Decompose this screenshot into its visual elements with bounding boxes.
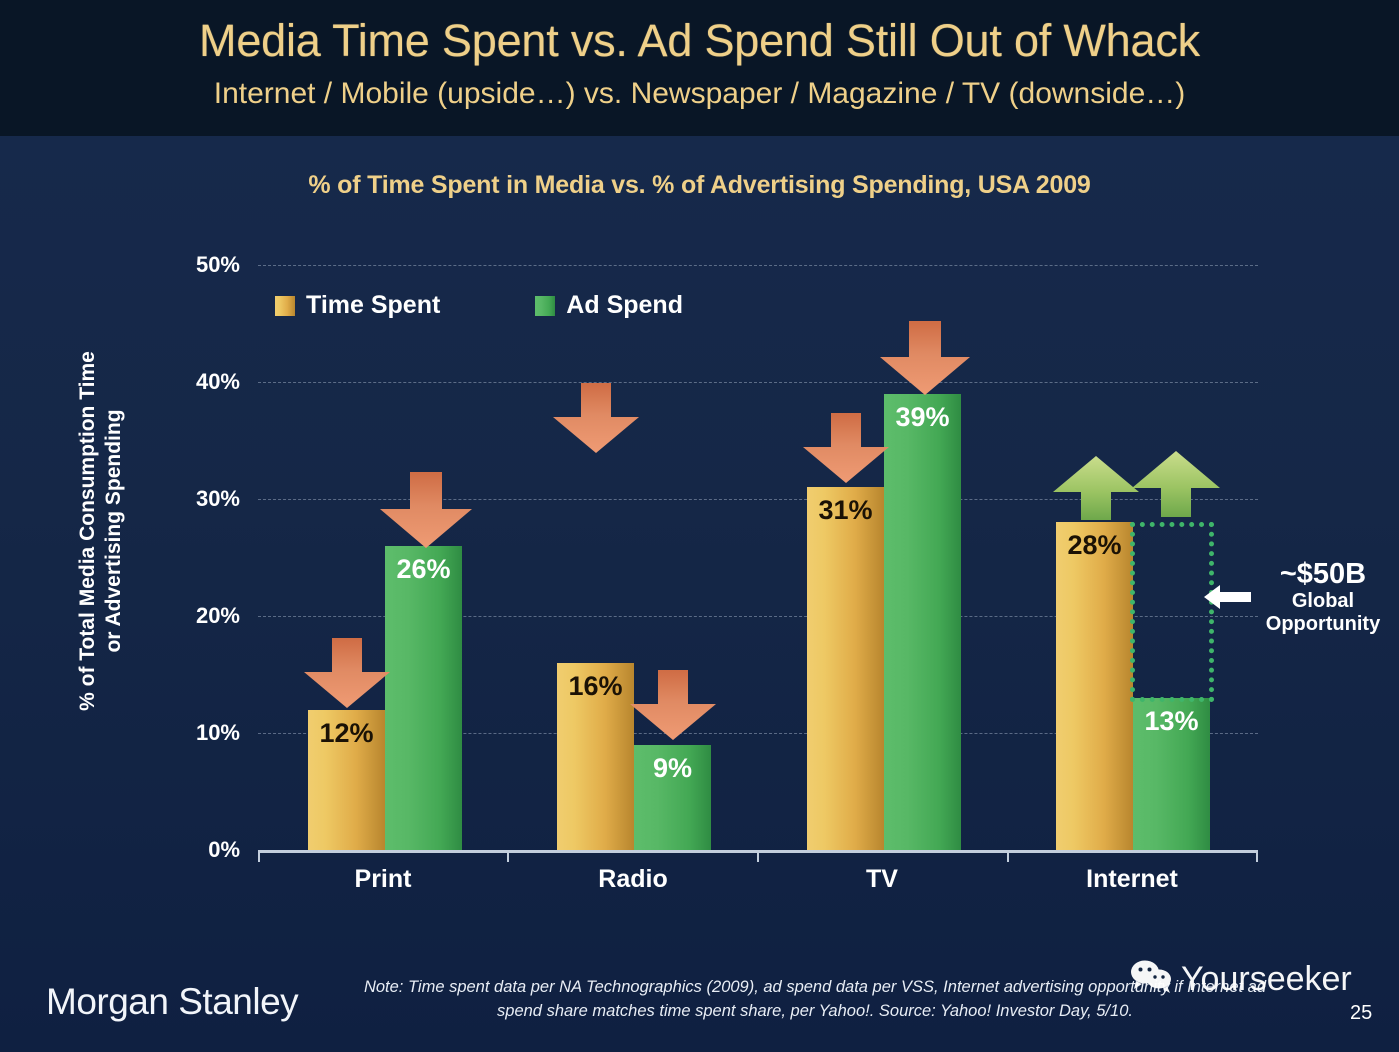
watermark-text: Yourseeker [1181,960,1352,999]
y-tick-label-10: 10% [120,720,240,746]
down-arrow-print-ad-spend [378,472,474,550]
y-tick-label-30: 30% [120,486,240,512]
page-number: 25 [1350,1002,1372,1025]
x-label-internet: Internet [1012,865,1252,894]
gridline-50 [258,265,1258,266]
chart-title: % of Time Spent in Media vs. % of Advert… [0,171,1399,200]
axis-tick-1 [507,850,509,862]
up-arrow-internet-time-spent [1051,456,1141,522]
callout-arrow-icon [1204,584,1252,615]
y-axis-title-line1: % of Total Media Consumption Time [76,351,99,711]
callout-amount: ~$50B [1248,558,1398,590]
bar-radio-ad-spend[interactable]: 9% [634,745,711,850]
slide-header: Media Time Spent vs. Ad Spend Still Out … [0,0,1399,136]
down-arrow-radio-time-spent [551,383,641,455]
bar-label-tv-ad-spend: 39% [884,402,961,433]
down-arrow-print-time-spent [302,638,392,710]
bar-label-internet-time-spent: 28% [1056,530,1133,561]
bar-radio-time-spent[interactable]: 16% [557,663,634,850]
opportunity-callout: ~$50B Global Opportunity [1248,558,1398,635]
opportunity-box [1130,522,1214,702]
x-label-print: Print [263,865,503,894]
slide-subtitle: Internet / Mobile (upside…) vs. Newspape… [0,79,1399,109]
bar-print-ad-spend[interactable]: 26% [385,546,462,850]
morgan-stanley-logo: Morgan Stanley [46,981,298,1023]
axis-tick-end [1256,850,1258,862]
callout-line2: Global [1248,590,1398,612]
slide-title: Media Time Spent vs. Ad Spend Still Out … [0,18,1399,63]
bar-label-radio-time-spent: 16% [557,671,634,702]
bar-tv-time-spent[interactable]: 31% [807,487,884,850]
watermark: Yourseeker [1130,960,1352,999]
x-label-tv: TV [762,865,1002,894]
bar-label-print-ad-spend: 26% [385,554,462,585]
y-tick-label-20: 20% [120,603,240,629]
x-label-radio: Radio [513,865,753,894]
bar-internet-time-spent[interactable]: 28% [1056,522,1133,850]
axis-tick-start [258,850,260,862]
plot-area: 0% 10% 20% 30% 40% 50% 12% 26% 16% 9% 31… [258,265,1258,850]
slide-body: % of Time Spent in Media vs. % of Advert… [0,136,1399,1052]
gridline-40 [258,382,1258,383]
down-arrow-radio-ad-spend [628,670,718,742]
footnote-line2: spend share matches time spent share, pe… [305,1000,1325,1024]
bar-tv-ad-spend[interactable]: 39% [884,394,961,850]
up-arrow-internet-ad-spend [1130,451,1222,519]
bar-label-radio-ad-spend: 9% [634,753,711,784]
y-tick-label-50: 50% [120,252,240,278]
down-arrow-tv-ad-spend [878,321,972,397]
bar-label-tv-time-spent: 31% [807,495,884,526]
wechat-icon [1130,960,1174,999]
y-tick-label-0: 0% [120,837,240,863]
bar-internet-ad-spend[interactable]: 13% [1133,698,1210,850]
callout-line3: Opportunity [1248,613,1398,635]
bar-label-print-time-spent: 12% [308,718,385,749]
bar-label-internet-ad-spend: 13% [1133,706,1210,737]
axis-tick-2 [757,850,759,862]
y-tick-label-40: 40% [120,369,240,395]
down-arrow-tv-time-spent [801,413,891,485]
axis-tick-3 [1007,850,1009,862]
bar-print-time-spent[interactable]: 12% [308,710,385,850]
